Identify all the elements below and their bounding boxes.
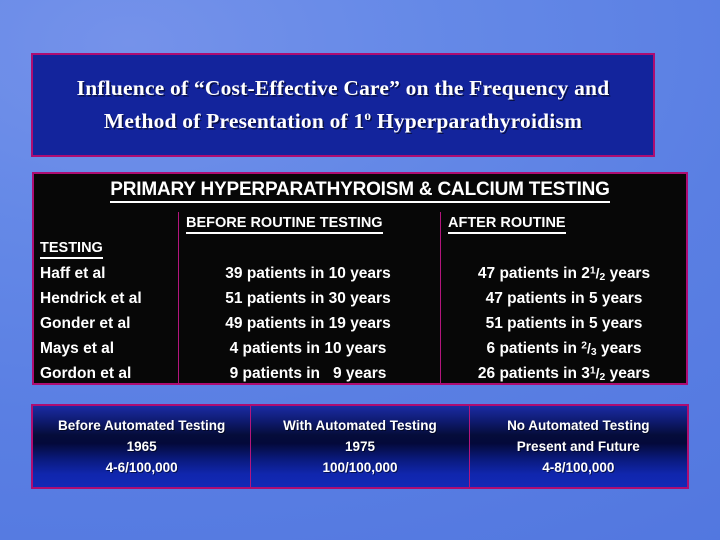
row-after-fraction: 2/3 — [581, 340, 596, 358]
row-after-pre: 51 patients in 5 years — [486, 315, 643, 332]
summary-panel-line-2: 1975 — [345, 436, 375, 457]
summary-box: Before Automated Testing 1965 4-6/100,00… — [31, 404, 689, 489]
row-after-value: 26 patients in 31/2 years — [442, 365, 686, 383]
row-study-name: Mays et al — [40, 340, 174, 358]
slide-canvas: Influence of “Cost-Effective Care” on th… — [0, 0, 720, 540]
row-study-name: Gordon et al — [40, 365, 174, 383]
title-line-1: Influence of “Cost-Effective Care” on th… — [77, 72, 610, 105]
row-after-value: 47 patients in 21/2 years — [442, 265, 686, 283]
row-after-fraction: 1/2 — [590, 265, 605, 283]
row-study-name: Haff et al — [40, 265, 174, 283]
summary-panel-with-automated-testing: With Automated Testing 1975 100/100,000 — [250, 406, 468, 487]
table-row: Haff et al 39 patients in 10 years 47 pa… — [34, 265, 686, 291]
row-after-fraction: 1/2 — [590, 365, 605, 383]
title-box: Influence of “Cost-Effective Care” on th… — [31, 53, 655, 157]
row-after-value: 6 patients in 2/3 years — [442, 340, 686, 358]
table-row: Hendrick et al 51 patients in 30 years 4… — [34, 290, 686, 316]
row-after-pre: 6 patients in — [487, 340, 582, 357]
row-before-value: 9 patients in 9 years — [180, 365, 436, 383]
summary-panel-before-automated-testing: Before Automated Testing 1965 4-6/100,00… — [33, 406, 250, 487]
table-row: Gordon et al 9 patients in 9 years 26 pa… — [34, 365, 686, 385]
row-after-post: years — [597, 340, 642, 357]
row-after-value: 51 patients in 5 years — [442, 315, 686, 333]
row-after-pre: 26 patients in 3 — [478, 365, 590, 382]
row-after-post: years — [605, 265, 650, 282]
title-line-2-post: Hyperparathyroidism — [371, 109, 582, 133]
column-header-before: BEFORE ROUTINE TESTING — [186, 215, 383, 231]
table-heading-text: PRIMARY HYPERPARATHYROISM & CALCIUM TEST… — [110, 179, 610, 203]
summary-panel-line-3: 4-8/100,000 — [542, 457, 614, 478]
row-after-pre: 47 patients in 5 years — [486, 290, 643, 307]
row-after-value: 47 patients in 5 years — [442, 290, 686, 308]
summary-panel-line-2: Present and Future — [517, 436, 640, 457]
summary-panel-line-3: 100/100,000 — [322, 457, 397, 478]
row-before-value: 49 patients in 19 years — [180, 315, 436, 333]
column-header-after: AFTER ROUTINE — [448, 215, 566, 231]
row-study-name: Gonder et al — [40, 315, 174, 333]
column-header-testing: TESTING — [40, 240, 103, 256]
summary-panel-line-1: No Automated Testing — [507, 415, 650, 436]
table-row: Gonder et al 49 patients in 19 years 51 … — [34, 315, 686, 341]
row-study-name: Hendrick et al — [40, 290, 174, 308]
data-table-box: PRIMARY HYPERPARATHYROISM & CALCIUM TEST… — [32, 172, 688, 385]
row-before-value: 39 patients in 10 years — [180, 265, 436, 283]
summary-panel-line-2: 1965 — [127, 436, 157, 457]
row-before-value: 4 patients in 10 years — [180, 340, 436, 358]
summary-panel-line-1: With Automated Testing — [283, 415, 437, 436]
summary-panel-line-3: 4-6/100,000 — [106, 457, 178, 478]
column-header-after-text: AFTER ROUTINE — [448, 215, 566, 234]
table-row: Mays et al 4 patients in 10 years 6 pati… — [34, 340, 686, 366]
row-after-pre: 47 patients in 2 — [478, 265, 590, 282]
summary-panel-line-1: Before Automated Testing — [58, 415, 225, 436]
table-heading: PRIMARY HYPERPARATHYROISM & CALCIUM TEST… — [34, 179, 686, 201]
column-header-testing-text: TESTING — [40, 240, 103, 259]
title-line-2: Method of Presentation of 1o Hyperparath… — [104, 105, 582, 138]
row-before-value: 51 patients in 30 years — [180, 290, 436, 308]
summary-panel-no-automated-testing: No Automated Testing Present and Future … — [469, 406, 687, 487]
title-line-2-pre: Method of Presentation of 1 — [104, 109, 365, 133]
row-after-post: years — [605, 365, 650, 382]
column-header-before-text: BEFORE ROUTINE TESTING — [186, 215, 383, 234]
